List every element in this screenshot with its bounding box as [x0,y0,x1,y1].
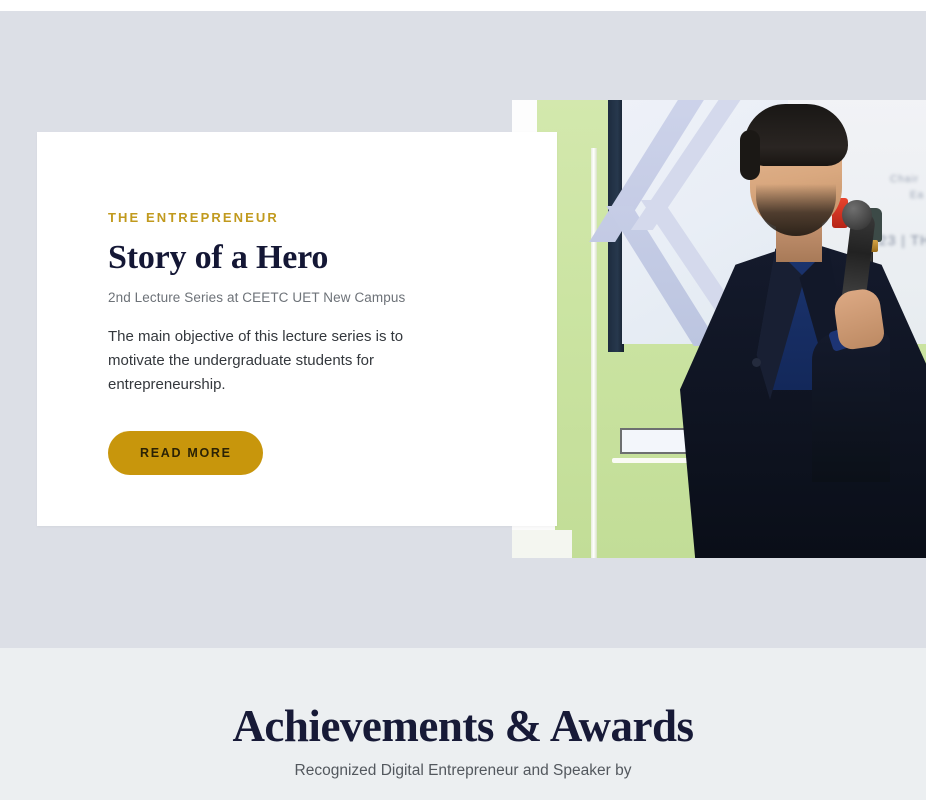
card-body-text: The main objective of this lecture serie… [108,325,438,398]
wall-pipe [591,148,597,558]
card-title: Story of a Hero [108,240,497,277]
card-subtitle: 2nd Lecture Series at CEETC UET New Camp… [108,290,497,305]
slide-text-line: Ea [910,190,924,201]
achievements-title: Achievements & Awards [0,703,926,750]
achievements-section: Achievements & Awards Recognized Digital… [0,648,926,800]
hero-photo: nos JA Chair Ea Committee on 123 | THUR … [512,100,926,558]
speaker-hair [744,104,848,166]
photo-floor [512,530,572,558]
slide-text-line: Chair [890,174,919,185]
card-eyebrow: THE ENTREPRENEUR [108,210,497,225]
speaker-arm [812,332,890,482]
photo-canvas: nos JA Chair Ea Committee on 123 | THUR … [512,100,926,558]
hero-card-content: THE ENTREPRENEUR Story of a Hero 2nd Lec… [37,132,557,475]
page-root: nos JA Chair Ea Committee on 123 | THUR … [0,0,926,800]
suit-button [752,358,761,367]
read-more-button[interactable]: READ MORE [108,431,263,475]
achievements-subtitle: Recognized Digital Entrepreneur and Spea… [0,762,926,780]
hero-section: nos JA Chair Ea Committee on 123 | THUR … [0,11,926,648]
hero-card: THE ENTREPRENEUR Story of a Hero 2nd Lec… [37,132,557,526]
top-white-strip [0,0,926,11]
